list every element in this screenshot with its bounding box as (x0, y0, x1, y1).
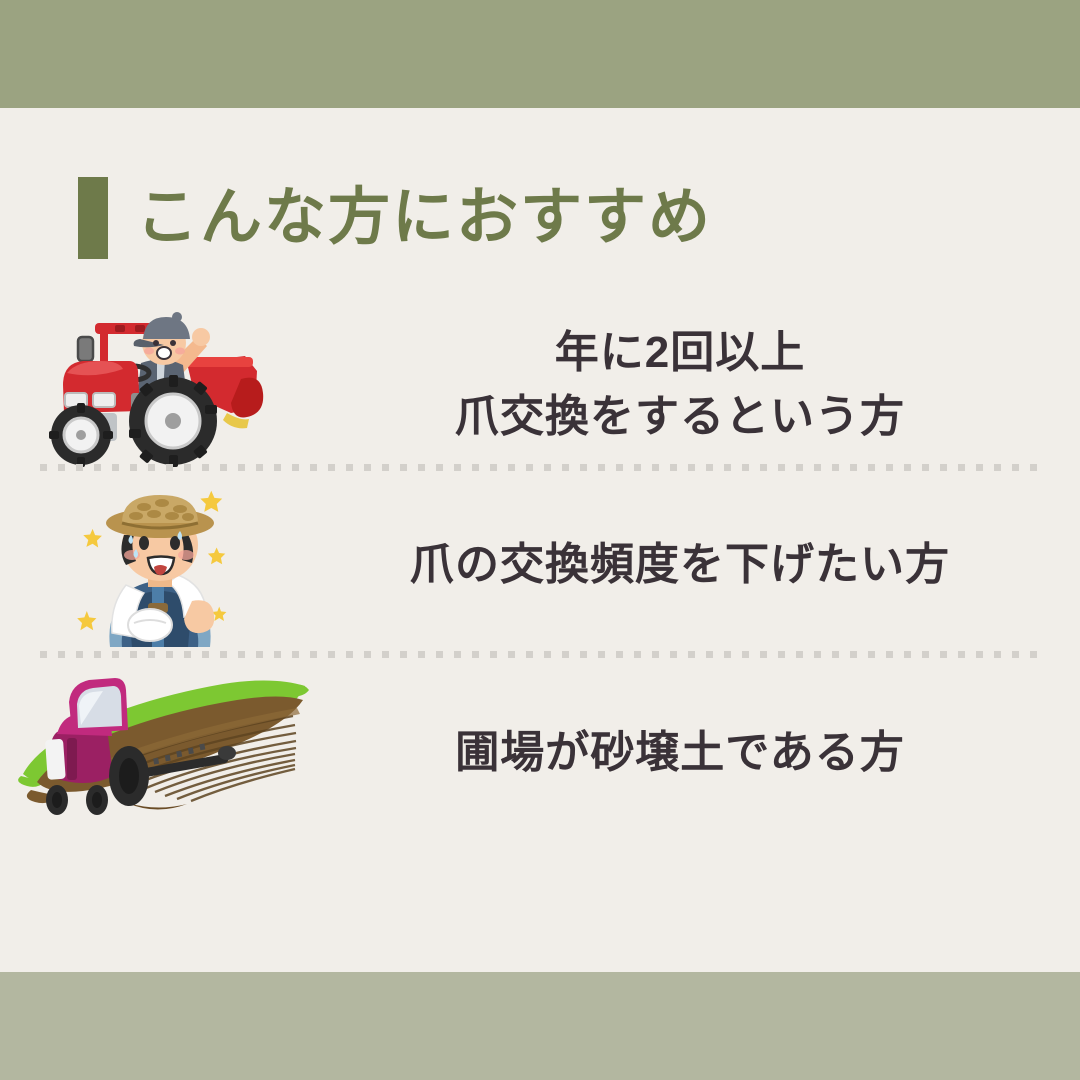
top-color-band (0, 0, 1080, 108)
list-item: 爪の交換頻度を下げたい方 (0, 470, 1080, 660)
smiling-farmer-with-straw-hat-and-towel-illustration (0, 483, 320, 647)
item-text: 圃場が砂壌土である方 (320, 721, 1080, 785)
item-text-line: 圃場が砂壌土である方 (320, 721, 1040, 785)
red-tractor-with-waving-farmer-illustration (0, 301, 320, 469)
tractor-tilling-sandy-loam-field-illustration (0, 678, 320, 828)
heading-accent-bar (78, 177, 108, 259)
bottom-color-band (0, 972, 1080, 1080)
poster-root: こんな方におすすめ (0, 0, 1080, 1080)
item-text-line: 爪の交換頻度を下げたい方 (320, 533, 1040, 597)
dotted-divider (40, 651, 1040, 658)
list-item: 年に2回以上 爪交換をするという方 (0, 300, 1080, 470)
section-heading: こんな方におすすめ (78, 168, 712, 268)
recommendation-list: 年に2回以上 爪交換をするという方 (0, 300, 1080, 845)
list-item: 圃場が砂壌土である方 (0, 660, 1080, 845)
item-text: 爪の交換頻度を下げたい方 (320, 533, 1080, 597)
dotted-divider (40, 464, 1040, 471)
item-text-line: 爪交換をするという方 (320, 385, 1040, 449)
item-text: 年に2回以上 爪交換をするという方 (320, 321, 1080, 449)
heading-title: こんな方におすすめ (136, 187, 712, 249)
item-text-line: 年に2回以上 (320, 321, 1040, 385)
